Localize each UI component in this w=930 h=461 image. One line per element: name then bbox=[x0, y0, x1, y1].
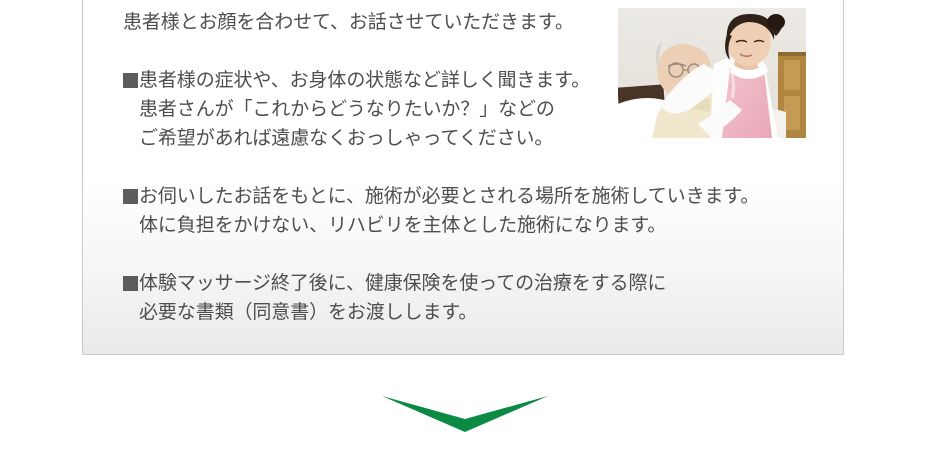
paragraph-treatment-line-2: 体に負担をかけない、リハビリを主体とした施術になります。 bbox=[123, 211, 823, 240]
paragraph-documents-line-1: 体験マッサージ終了後に、健康保険を使っての治療をする際に bbox=[123, 269, 823, 298]
square-bullet-icon bbox=[123, 189, 138, 204]
square-bullet-icon bbox=[123, 73, 138, 88]
paragraph-treatment: お伺いしたお話をもとに、施術が必要とされる場所を施術していきます。 体に負担をか… bbox=[123, 182, 823, 240]
content-panel: 患者様とお顔を合わせて、お話させていただきます。 患者様の症状や、お身体の状態な… bbox=[82, 0, 844, 355]
chevron-shape bbox=[382, 396, 548, 432]
paragraph-documents-line-2: 必要な書類（同意書）をお渡しします。 bbox=[123, 298, 823, 327]
paragraph-documents-text-1: 体験マッサージ終了後に、健康保険を使っての治療をする際に bbox=[139, 273, 666, 294]
caregiver-and-elderly-patient-photo bbox=[618, 8, 806, 138]
paragraph-documents: 体験マッサージ終了後に、健康保険を使っての治療をする際に 必要な書類（同意書）を… bbox=[123, 269, 823, 327]
square-bullet-icon bbox=[123, 276, 138, 291]
paragraph-treatment-line-1: お伺いしたお話をもとに、施術が必要とされる場所を施術していきます。 bbox=[123, 182, 823, 211]
down-chevron-arrow bbox=[382, 394, 548, 432]
paragraph-hearing-text-1: 患者様の症状や、お身体の状態など詳しく聞きます。 bbox=[139, 70, 590, 91]
paragraph-treatment-text-1: お伺いしたお話をもとに、施術が必要とされる場所を施術していきます。 bbox=[139, 186, 759, 207]
